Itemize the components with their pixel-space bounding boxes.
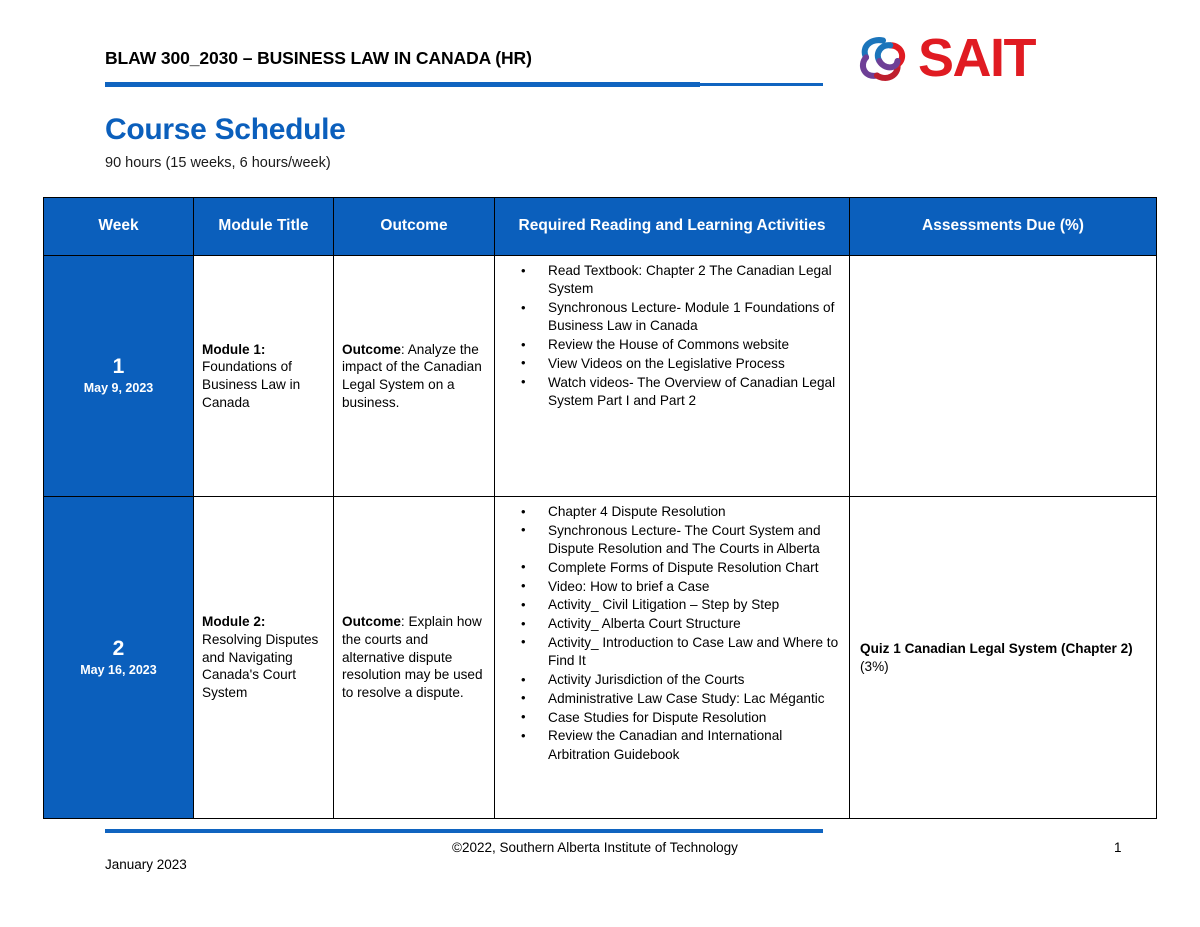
week-number: 1: [44, 354, 193, 380]
week-date: May 9, 2023: [44, 380, 193, 398]
footer-rule: [105, 829, 823, 833]
assessments-cell: Quiz 1 Canadian Legal System (Chapter 2)…: [850, 497, 1157, 819]
list-item: Complete Forms of Dispute Resolution Cha…: [521, 559, 841, 577]
list-item: Read Textbook: Chapter 2 The Canadian Le…: [521, 262, 841, 299]
list-item: Activity_ Civil Litigation – Step by Ste…: [521, 596, 841, 614]
list-item: Activity_ Introduction to Case Law and W…: [521, 634, 841, 671]
table-header-row: Week Module Title Outcome Required Readi…: [44, 198, 1157, 256]
list-item: Activity_ Alberta Court Structure: [521, 615, 841, 633]
assessment-percent: (3%): [860, 659, 889, 674]
list-item: Watch videos- The Overview of Canadian L…: [521, 374, 841, 411]
course-code-heading: BLAW 300_2030 – BUSINESS LAW IN CANADA (…: [105, 48, 532, 69]
document-header: BLAW 300_2030 – BUSINESS LAW IN CANADA (…: [0, 0, 1200, 100]
page-subtitle: 90 hours (15 weeks, 6 hours/week): [105, 155, 331, 171]
list-item: Chapter 4 Dispute Resolution: [521, 503, 841, 521]
list-item: Video: How to brief a Case: [521, 578, 841, 596]
module-text: Foundations of Business Law in Canada: [202, 359, 300, 409]
sait-logo: SAIT: [852, 28, 1052, 90]
outcome-label: Outcome: [342, 614, 401, 629]
header-rule-thick: [105, 82, 700, 87]
list-item: Synchronous Lecture- The Court System an…: [521, 522, 841, 559]
column-header-reading: Required Reading and Learning Activities: [495, 198, 850, 256]
table-header: Week Module Title Outcome Required Readi…: [44, 198, 1157, 256]
module-text: Resolving Disputes and Navigating Canada…: [202, 632, 318, 700]
table-body: 1 May 9, 2023 Module 1: Foundations of B…: [44, 256, 1157, 819]
list-item: Activity Jurisdiction of the Courts: [521, 671, 841, 689]
list-item: Case Studies for Dispute Resolution: [521, 709, 841, 727]
table-row: 2 May 16, 2023 Module 2: Resolving Dispu…: [44, 497, 1157, 819]
column-header-week: Week: [44, 198, 194, 256]
column-header-assessments: Assessments Due (%): [850, 198, 1157, 256]
sait-knot-logo-icon: [852, 32, 914, 84]
activities-list: Chapter 4 Dispute Resolution Synchronous…: [499, 503, 841, 764]
list-item: Review the Canadian and International Ar…: [521, 727, 841, 764]
assessments-cell: [850, 256, 1157, 497]
module-label: Module 2:: [202, 614, 265, 629]
module-title-cell: Module 2: Resolving Disputes and Navigat…: [194, 497, 334, 819]
reading-activities-cell: Chapter 4 Dispute Resolution Synchronous…: [495, 497, 850, 819]
reading-activities-cell: Read Textbook: Chapter 2 The Canadian Le…: [495, 256, 850, 497]
column-header-outcome: Outcome: [334, 198, 495, 256]
module-label: Module 1:: [202, 342, 265, 357]
list-item: Administrative Law Case Study: Lac Mégan…: [521, 690, 841, 708]
page-title: Course Schedule: [105, 113, 346, 147]
footer-copyright: ©2022, Southern Alberta Institute of Tec…: [452, 840, 738, 855]
activities-list: Read Textbook: Chapter 2 The Canadian Le…: [499, 262, 841, 410]
table-row: 1 May 9, 2023 Module 1: Foundations of B…: [44, 256, 1157, 497]
list-item: Synchronous Lecture- Module 1 Foundation…: [521, 299, 841, 336]
outcome-cell: Outcome: Analyze the impact of the Canad…: [334, 256, 495, 497]
week-cell: 2 May 16, 2023: [44, 497, 194, 819]
page-number: 1: [1114, 840, 1122, 855]
outcome-cell: Outcome: Explain how the courts and alte…: [334, 497, 495, 819]
outcome-label: Outcome: [342, 342, 401, 357]
week-cell: 1 May 9, 2023: [44, 256, 194, 497]
course-schedule-table: Week Module Title Outcome Required Readi…: [43, 197, 1157, 819]
week-number: 2: [44, 636, 193, 662]
sait-wordmark: SAIT: [918, 27, 1035, 89]
module-title-cell: Module 1: Foundations of Business Law in…: [194, 256, 334, 497]
list-item: View Videos on the Legislative Process: [521, 355, 841, 373]
column-header-module: Module Title: [194, 198, 334, 256]
week-date: May 16, 2023: [44, 662, 193, 680]
assessment-title: Quiz 1 Canadian Legal System (Chapter 2): [860, 641, 1133, 656]
header-rule-thin: [700, 83, 823, 86]
footer-date: January 2023: [105, 857, 187, 872]
list-item: Review the House of Commons website: [521, 336, 841, 354]
